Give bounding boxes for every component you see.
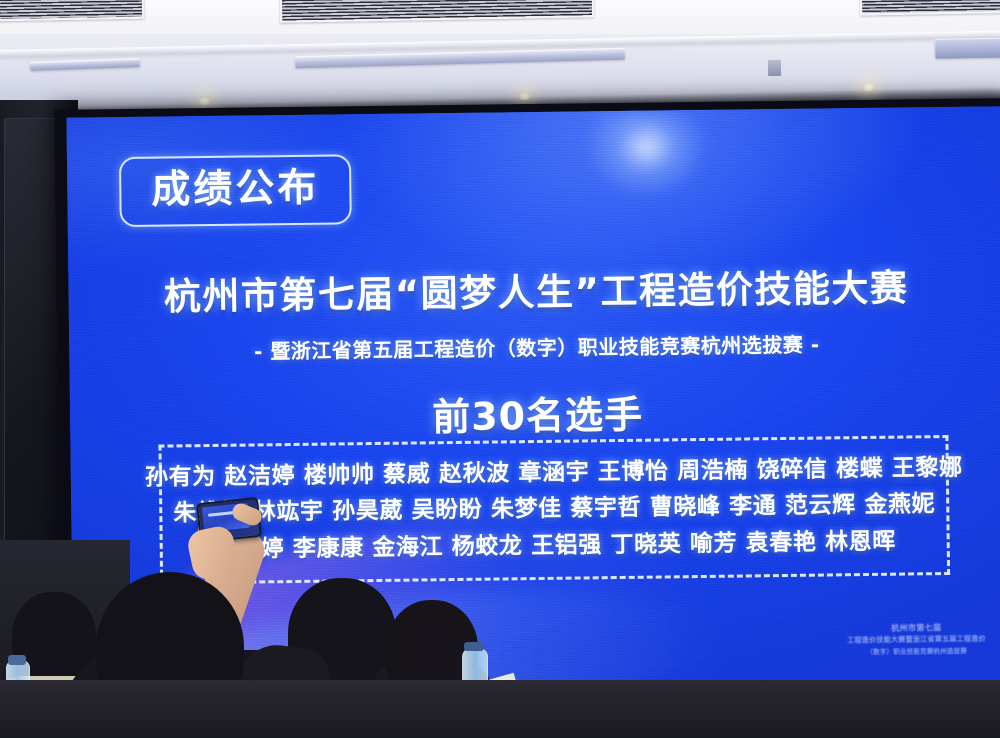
watermark-line-2: 工程造价技能大赛暨浙江省第五届工程造价 [847,634,986,646]
downlight-icon [862,83,875,92]
watermark-line-3: （数字）职业技能竞赛杭州选拔赛 [847,645,986,657]
air-vent-icon [0,0,144,21]
downlight-icon [198,97,211,106]
page-subtitle: - 暨浙江省第五届工程造价（数字）职业技能竞赛杭州选拔赛 - [69,326,1000,366]
led-presentation-screen: 成绩公布 杭州市第七届“圆梦人生”工程造价技能大赛 - 暨浙江省第五届工程造价（… [66,106,1000,703]
watermark-line-1: 杭州市第七届 [847,622,986,635]
results-badge-label: 成绩公布 [151,169,319,210]
slot-light [30,58,140,71]
names-row: 陈玉婷 李康康 金海江 杨蛟龙 王铝强 丁晓英 喻芳 袁春艳 林恩晖 [213,525,896,567]
slot-light [935,37,1000,59]
results-badge: 成绩公布 [119,154,352,227]
air-vent-icon [860,0,1000,16]
downlight-icon [518,92,531,101]
slide-watermark: 杭州市第七届 工程造价技能大赛暨浙江省第五届工程造价 （数字）职业技能竞赛杭州选… [847,622,986,657]
water-bottle [6,660,30,738]
foreground-silhouette [300,712,560,738]
slot-light [295,48,625,69]
photo-scene: 成绩公布 杭州市第七届“圆梦人生”工程造价技能大赛 - 暨浙江省第五届工程造价（… [0,0,1000,738]
light-flare [586,112,707,199]
names-row: 朱维楷 林竑宇 孙昊葳 吴盼盼 朱梦佳 蔡宇哲 曹晓峰 李通 范云辉 金燕妮 [173,488,935,531]
water-bottle-label [6,690,28,716]
ceiling-fixture [768,60,781,76]
title-block: 杭州市第七届“圆梦人生”工程造价技能大赛 - 暨浙江省第五届工程造价（数字）职业… [68,256,1000,445]
page-title: 杭州市第七届“圆梦人生”工程造价技能大赛 [68,256,1000,321]
winner-names-box: 孙有为 赵洁婷 楼帅帅 蔡威 赵秋波 章涵宇 王博怡 周浩楠 饶碎信 楼蝶 王黎… [158,435,950,585]
table [440,700,630,738]
